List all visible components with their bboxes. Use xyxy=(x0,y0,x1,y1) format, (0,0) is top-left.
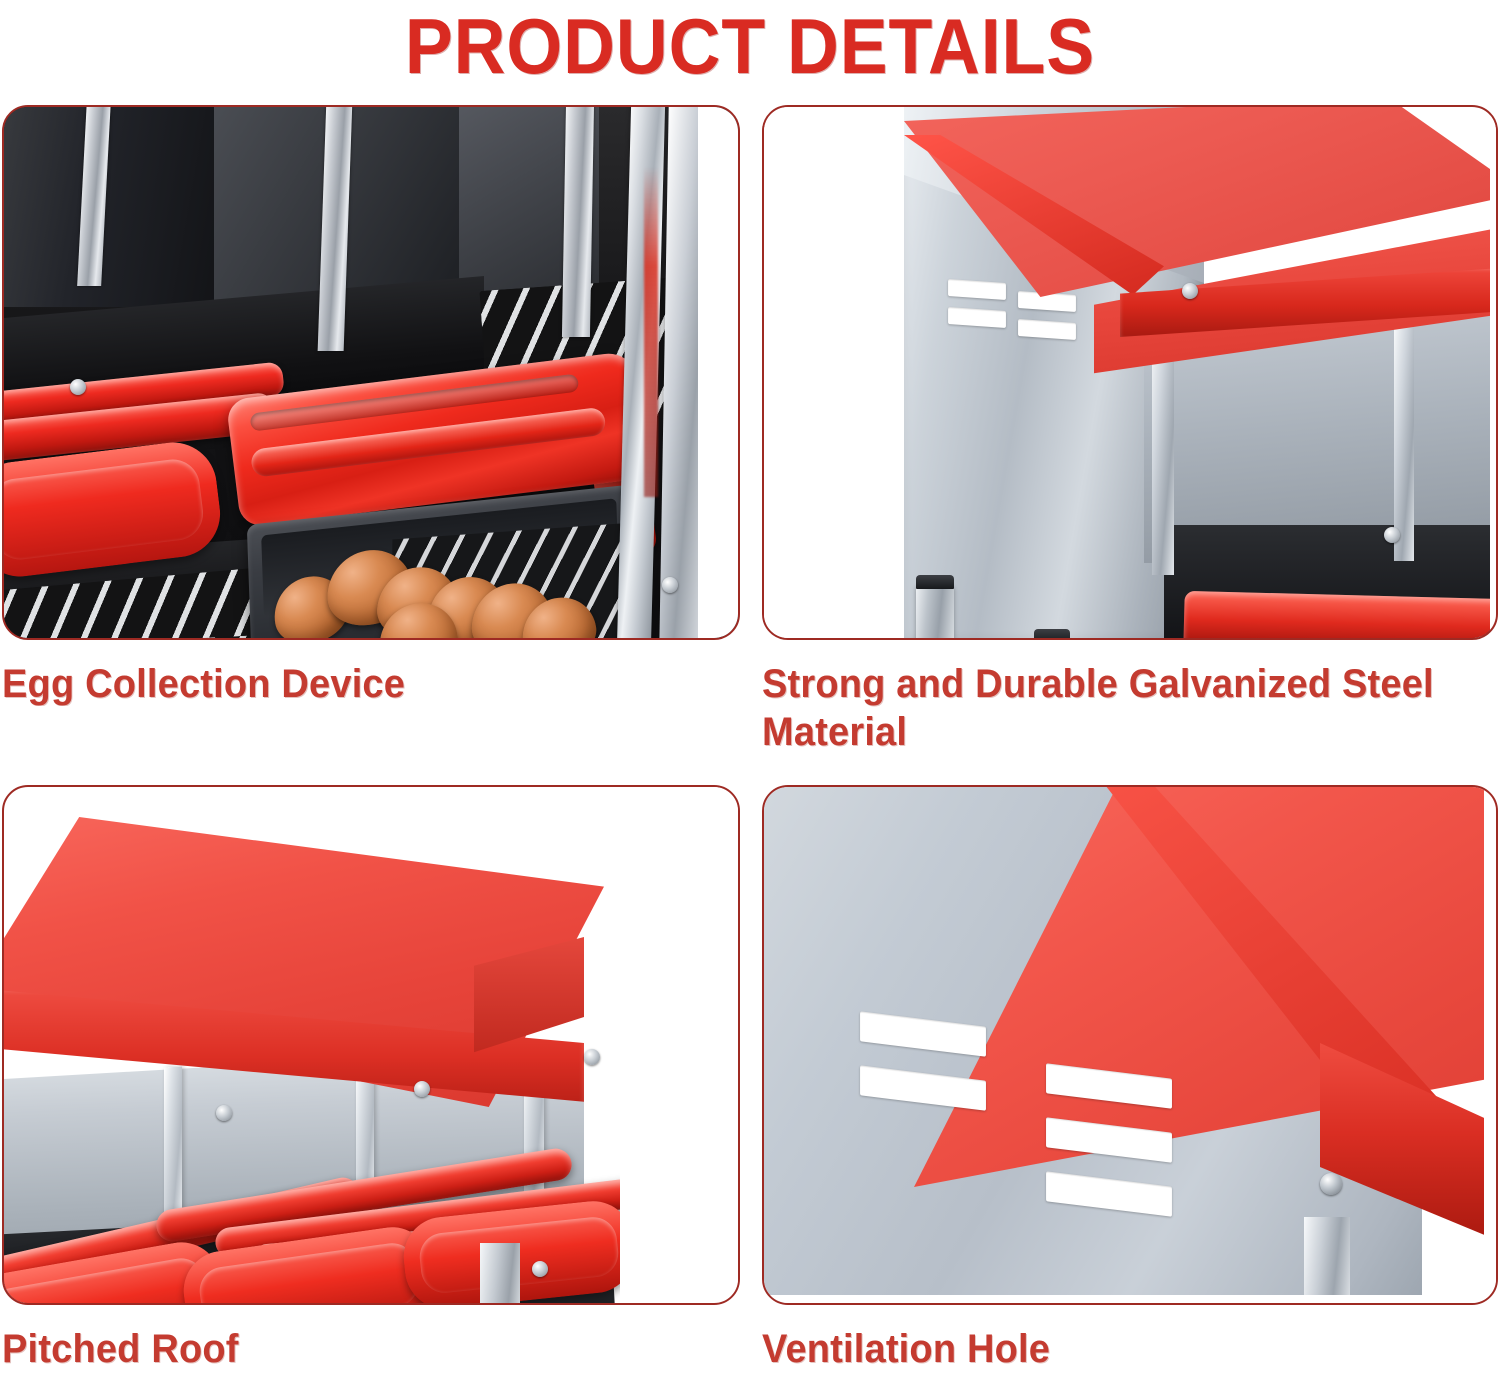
screw xyxy=(532,1261,548,1277)
screw xyxy=(584,1049,600,1065)
interior-divider-2 xyxy=(1394,313,1414,561)
post-red-reflection xyxy=(644,167,658,497)
steel-leg xyxy=(1034,639,1070,640)
steel-divider-3 xyxy=(562,105,594,337)
product-details-page: PRODUCT DETAILS xyxy=(0,0,1500,1384)
photo-white-edge-right xyxy=(1490,105,1498,636)
caption-galvanized-steel-material: Strong and Durable Galvanized Steel Mate… xyxy=(762,660,1461,756)
screw xyxy=(414,1081,430,1097)
photo-galvanized-steel-material xyxy=(762,105,1498,640)
photo-white-edge xyxy=(698,105,740,640)
panel-grid: Egg Collection Device xyxy=(0,105,1500,1384)
photo-ventilation-hole xyxy=(762,785,1498,1305)
photo-white-edge-left xyxy=(764,107,906,638)
steel-support-post xyxy=(480,1243,520,1305)
caption-ventilation-hole: Ventilation Hole xyxy=(762,1325,1461,1373)
caption-pitched-roof: Pitched Roof xyxy=(2,1325,703,1373)
caption-egg-collection-device: Egg Collection Device xyxy=(2,660,703,708)
panel-ventilation-hole: Ventilation Hole xyxy=(762,785,1498,1373)
steel-corner-post xyxy=(1304,1217,1350,1305)
screw xyxy=(1320,1173,1342,1195)
screw xyxy=(70,379,86,395)
photo-white-edge-right xyxy=(620,785,740,1301)
photo-white-edge-right xyxy=(1484,785,1498,1301)
panel-egg-collection-device: Egg Collection Device xyxy=(2,105,740,708)
screw xyxy=(1182,283,1198,299)
panel-pitched-roof: Pitched Roof xyxy=(2,785,740,1373)
nest-wall-left xyxy=(2,107,224,307)
screw xyxy=(1384,527,1400,543)
screw xyxy=(662,577,678,593)
photo-pitched-roof xyxy=(2,785,740,1305)
screw xyxy=(216,1105,232,1121)
page-title: PRODUCT DETAILS xyxy=(60,0,1440,96)
photo-egg-collection-device xyxy=(2,105,740,640)
steel-leg xyxy=(916,585,954,640)
panel-galvanized-steel-material: Strong and Durable Galvanized Steel Mate… xyxy=(762,105,1498,756)
photo-white-edge-bottom xyxy=(762,1295,1494,1305)
red-perch-rail xyxy=(1183,591,1498,640)
